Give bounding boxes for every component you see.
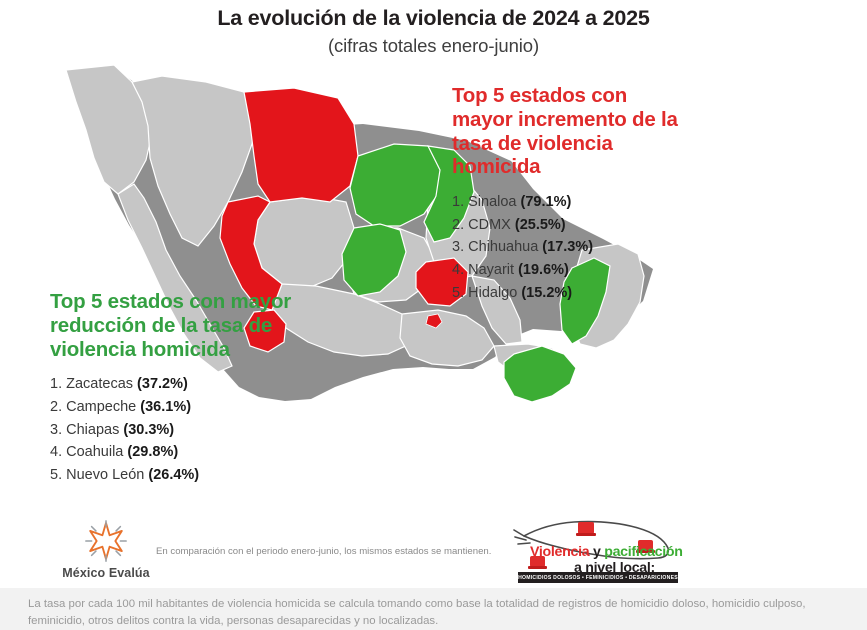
word-pacificacion: pacificación (604, 544, 682, 560)
rank: 2. (50, 399, 66, 415)
state-value: (29.8%) (127, 444, 178, 460)
footer: México Evalúa En comparación con el peri… (0, 506, 867, 588)
rank: 3. (452, 239, 468, 255)
rank: 4. (452, 262, 468, 278)
infographic-root: La evolución de la violencia de 2024 a 2… (0, 0, 867, 630)
word-y: y (589, 544, 604, 560)
title-block: La evolución de la violencia de 2024 a 2… (0, 6, 867, 57)
callout-increase: Top 5 estados con mayor incremento de la… (452, 84, 682, 304)
page-title: La evolución de la violencia de 2024 a 2… (0, 6, 867, 31)
state-value: (15.2%) (521, 285, 572, 301)
word-violencia: Violencia (530, 544, 589, 560)
state-value: (19.6%) (518, 262, 569, 278)
state-name: Sinaloa (468, 194, 520, 210)
state-name: Campeche (66, 399, 140, 415)
state-name: Chihuahua (468, 239, 542, 255)
rank: 4. (50, 444, 66, 460)
list-item: 2. Campeche (36.1%) (50, 396, 300, 419)
report-logo-line1: Violencia y pacificación (530, 544, 683, 560)
state-value: (30.3%) (123, 422, 174, 438)
state-name: Coahuila (66, 444, 127, 460)
list-item: 4. Nayarit (19.6%) (452, 259, 682, 282)
callout-reduction-list: 1. Zacatecas (37.2%) 2. Campeche (36.1%)… (50, 373, 300, 486)
state-name: Chiapas (66, 422, 123, 438)
report-logo-band: HOMICIDIOS DOLOSOS • FEMINICIDIOS • DESA… (518, 572, 678, 583)
comparison-note: En comparación con el periodo enero-juni… (156, 546, 506, 558)
star-burst-icon (83, 518, 129, 564)
brand-name: México Evalúa (36, 566, 176, 580)
state-value: (79.1%) (521, 194, 572, 210)
state-value: (37.2%) (137, 376, 188, 392)
list-item: 2. CDMX (25.5%) (452, 214, 682, 237)
callout-reduction: Top 5 estados con mayor reducción de la … (50, 290, 300, 486)
page-subtitle: (cifras totales enero-junio) (0, 35, 867, 57)
state-name: Nayarit (468, 262, 518, 278)
list-item: 5. Hidalgo (15.2%) (452, 282, 682, 305)
state-name: CDMX (468, 217, 515, 233)
list-item: 5. Nuevo León (26.4%) (50, 464, 300, 487)
callout-reduction-heading: Top 5 estados con mayor reducción de la … (50, 290, 300, 361)
state-name: Hidalgo (468, 285, 521, 301)
rank: 1. (452, 194, 468, 210)
list-item: 3. Chihuahua (17.3%) (452, 236, 682, 259)
callout-increase-list: 1. Sinaloa (79.1%) 2. CDMX (25.5%) 3. Ch… (452, 191, 682, 304)
map-pin-icon (576, 522, 596, 536)
list-item: 1. Sinaloa (79.1%) (452, 191, 682, 214)
report-logo-violencia-pacificacion: Violencia y pacificación a nivel local: … (512, 512, 692, 586)
map-state-chiapas (504, 346, 576, 402)
rank: 3. (50, 422, 66, 438)
map-state-chihuahua (244, 88, 358, 202)
rank: 5. (50, 467, 66, 483)
disclaimer-text: La tasa por cada 100 mil habitantes de v… (0, 588, 867, 629)
list-item: 4. Coahuila (29.8%) (50, 441, 300, 464)
state-value: (25.5%) (515, 217, 566, 233)
list-item: 3. Chiapas (30.3%) (50, 419, 300, 442)
rank: 2. (452, 217, 468, 233)
state-name: Nuevo León (66, 467, 148, 483)
list-item: 1. Zacatecas (37.2%) (50, 373, 300, 396)
disclaimer-bar: La tasa por cada 100 mil habitantes de v… (0, 588, 867, 630)
rank: 5. (452, 285, 468, 301)
state-value: (26.4%) (148, 467, 199, 483)
state-name: Zacatecas (66, 376, 137, 392)
state-value: (36.1%) (140, 399, 191, 415)
rank: 1. (50, 376, 66, 392)
callout-increase-heading: Top 5 estados con mayor incremento de la… (452, 84, 682, 179)
brand-mexico-evalua: México Evalúa (36, 518, 176, 580)
state-value: (17.3%) (542, 239, 593, 255)
